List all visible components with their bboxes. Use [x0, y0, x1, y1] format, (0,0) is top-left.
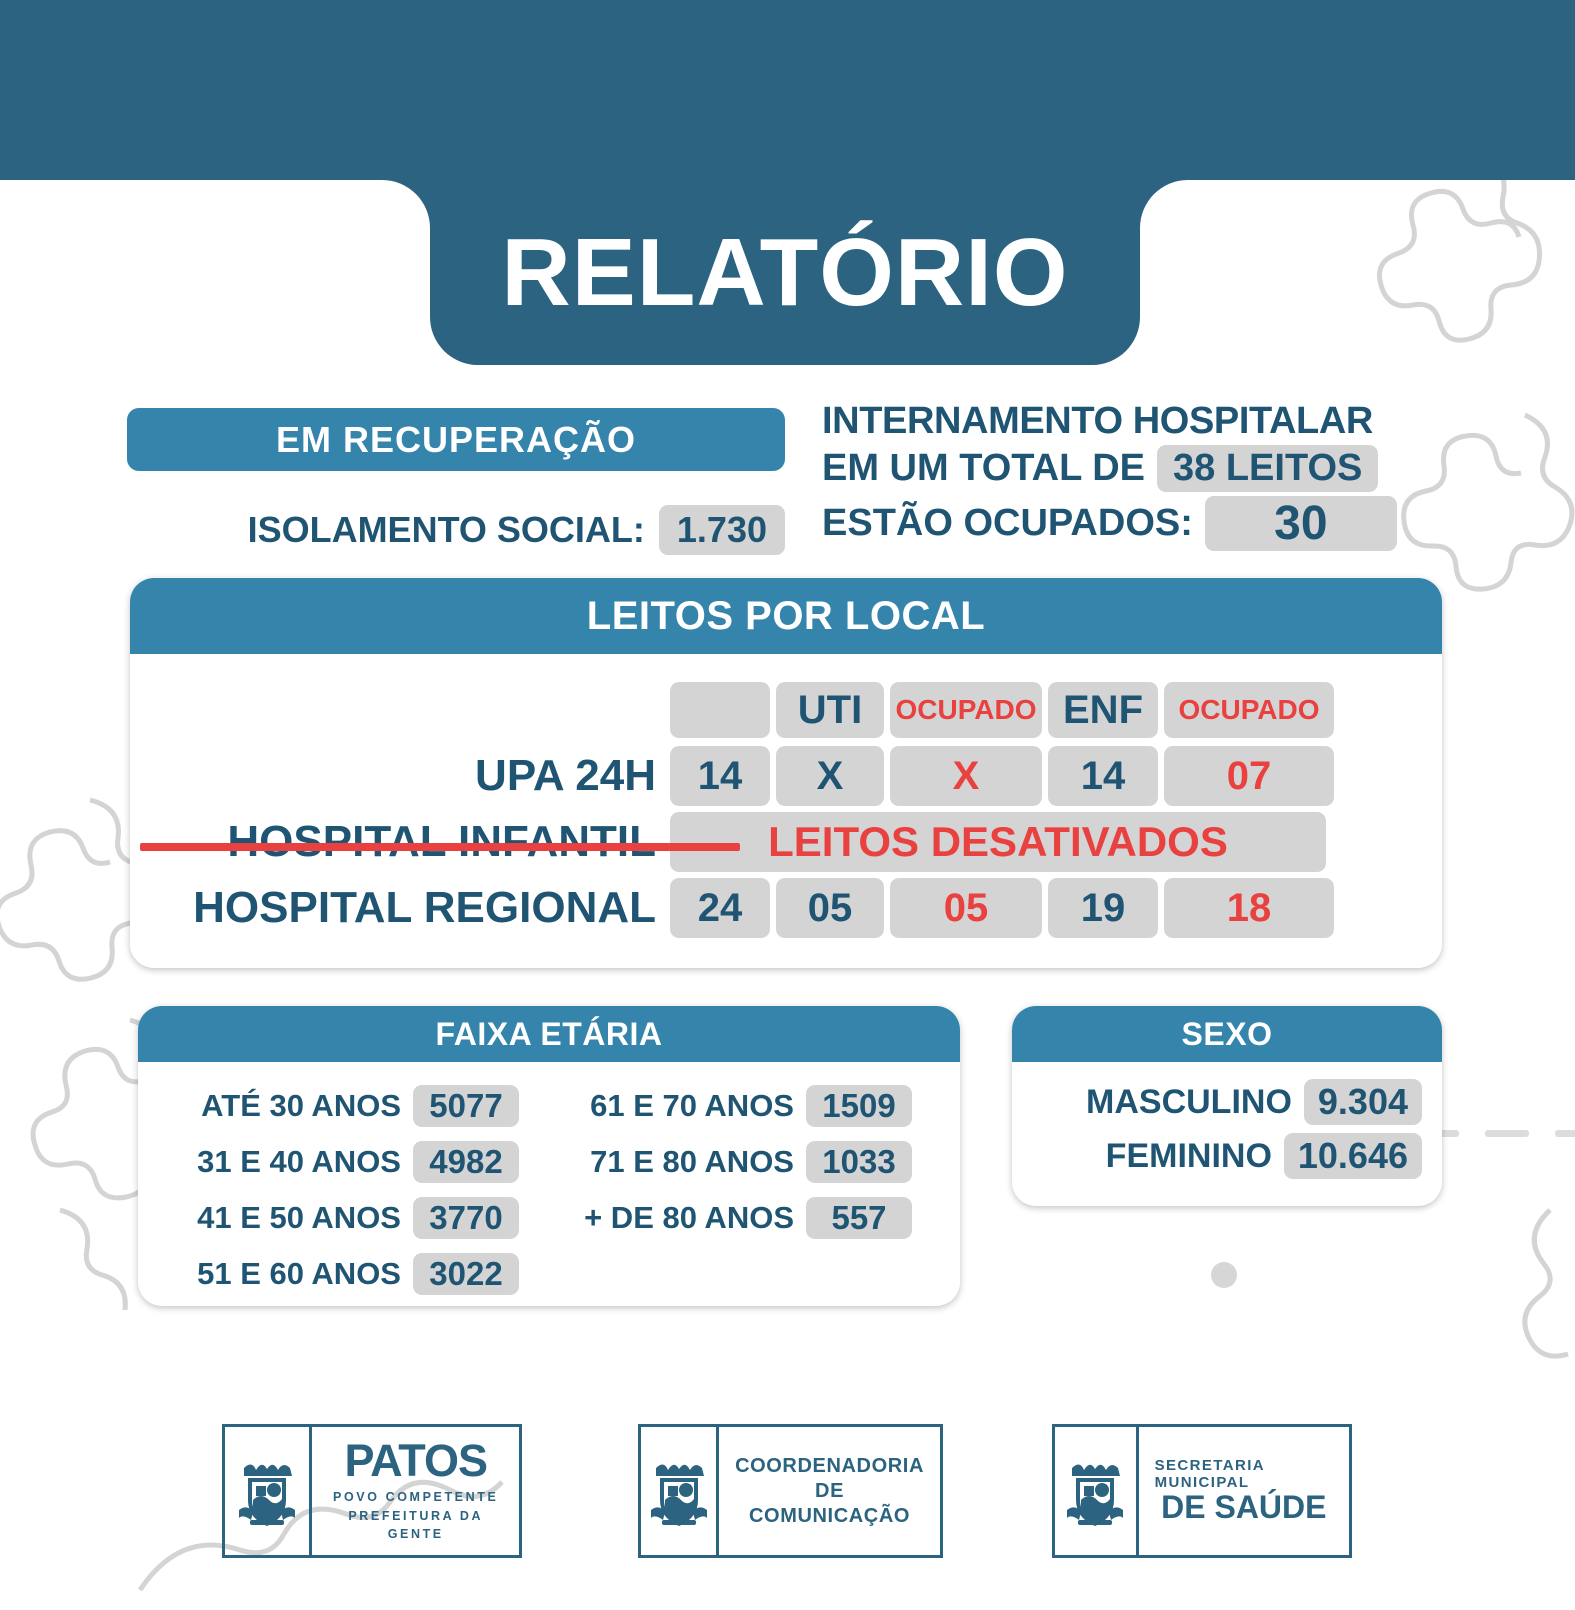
table-row: UPA 24H 14 X X 14 07: [130, 746, 1442, 806]
leitos-card-title: LEITOS POR LOCAL: [587, 594, 985, 639]
leitos-card-header: LEITOS POR LOCAL: [130, 578, 1442, 654]
header-cell-blank: [670, 682, 770, 738]
isolamento-value: 1.730: [659, 505, 785, 555]
faixa-value: 3770: [413, 1197, 519, 1239]
recuperacao-pill: EM RECUPERAÇÃO: [127, 408, 785, 471]
faixa-label: 61 E 70 ANOS: [549, 1088, 794, 1124]
ocupados-value: 30: [1205, 496, 1397, 551]
total-leitos-label: EM UM TOTAL DE: [822, 447, 1145, 490]
decor-dot-3: [1211, 1262, 1237, 1288]
faixa-row: 51 E 60 ANOS 3022: [156, 1252, 549, 1296]
faixa-column-right: 61 E 70 ANOS 1509 71 E 80 ANOS 1033 + DE…: [549, 1084, 942, 1306]
logo-saude-line2: DE SAÚDE: [1161, 1491, 1326, 1525]
row-cells-hospital-regional: 24 05 05 19 18: [670, 878, 1334, 938]
faixa-label: 71 E 80 ANOS: [549, 1144, 794, 1180]
header-cell-uti-ocupado: OCUPADO: [890, 682, 1042, 738]
faixa-row: ATÉ 30 ANOS 5077: [156, 1084, 549, 1128]
logo-patos-text: PATOS POVO COMPETENTE PREFEITURA DA GENT…: [312, 1427, 519, 1555]
table-header-row: UTI OCUPADO ENF OCUPADO: [130, 680, 1442, 740]
header-bar: [0, 0, 1575, 180]
table-row: HOSPITAL REGIONAL 24 05 05 19 18: [130, 878, 1442, 938]
cell-leitos-desativados: LEITOS DESATIVADOS: [670, 812, 1326, 872]
cell-regional-enf: 19: [1048, 878, 1158, 938]
page-title: RELATÓRIO: [501, 218, 1068, 328]
row-label-hospital-regional: HOSPITAL REGIONAL: [130, 883, 670, 933]
ocupados-row: ESTÃO OCUPADOS: 30: [822, 496, 1442, 551]
faixa-row: 31 E 40 ANOS 4982: [156, 1140, 549, 1184]
sexo-row: MASCULINO 9.304: [1022, 1078, 1422, 1126]
header-cell-uti: UTI: [776, 682, 884, 738]
leitos-table: UTI OCUPADO ENF OCUPADO UPA 24H 14 X X 1…: [130, 654, 1442, 938]
cell-upa-uti: X: [776, 746, 884, 806]
sexo-value-masculino: 9.304: [1304, 1079, 1422, 1125]
row-cells-upa: 14 X X 14 07: [670, 746, 1334, 806]
faixa-row: 41 E 50 ANOS 3770: [156, 1196, 549, 1240]
logo-secretaria-saude: SECRETARIA MUNICIPAL DE SAÚDE: [1052, 1424, 1352, 1558]
logo-patos-subtitle: POVO COMPETENTE PREFEITURA DA GENTE: [328, 1488, 503, 1544]
faixa-label: + DE 80 ANOS: [549, 1200, 794, 1236]
sexo-label-masculino: MASCULINO: [1086, 1083, 1292, 1122]
faixa-label: ATÉ 30 ANOS: [156, 1088, 401, 1124]
coat-of-arms-icon: [641, 1427, 719, 1555]
row-cells-hospital-infantil: LEITOS DESATIVADOS: [670, 812, 1326, 872]
recuperacao-label: EM RECUPERAÇÃO: [276, 419, 636, 461]
sexo-card: SEXO MASCULINO 9.304 FEMININO 10.646: [1012, 1006, 1442, 1206]
total-leitos-row: EM UM TOTAL DE 38 LEITOS: [822, 445, 1442, 492]
faixa-card-title: FAIXA ETÁRIA: [435, 1016, 662, 1053]
sexo-card-title: SEXO: [1182, 1016, 1273, 1053]
faixa-value: 3022: [413, 1253, 519, 1295]
cell-upa-total: 14: [670, 746, 770, 806]
tab-fillet-left: [382, 180, 430, 228]
cell-regional-total: 24: [670, 878, 770, 938]
internamento-block: INTERNAMENTO HOSPITALAR EM UM TOTAL DE 3…: [822, 400, 1442, 551]
isolamento-label: ISOLAMENTO SOCIAL:: [248, 509, 645, 551]
table-row: HOSPITAL INFANTIL LEITOS DESATIVADOS: [130, 812, 1442, 872]
report-title-banner: RELATÓRIO: [0, 180, 1575, 370]
faixa-row: 61 E 70 ANOS 1509: [549, 1084, 942, 1128]
cell-regional-uti: 05: [776, 878, 884, 938]
faixa-value: 1509: [806, 1085, 912, 1127]
header-cells: UTI OCUPADO ENF OCUPADO: [670, 682, 1334, 738]
logo-comunicacao-label: COORDENADORIA DE COMUNICAÇÃO: [735, 1454, 924, 1529]
cell-upa-uti-ocupado: X: [890, 746, 1042, 806]
faixa-etaria-card: FAIXA ETÁRIA ATÉ 30 ANOS 5077 31 E 40 AN…: [138, 1006, 960, 1306]
faixa-value: 4982: [413, 1141, 519, 1183]
report-title-tab: RELATÓRIO: [430, 180, 1140, 365]
faixa-label: 31 E 40 ANOS: [156, 1144, 401, 1180]
faixa-row: + DE 80 ANOS 557: [549, 1196, 942, 1240]
cell-regional-uti-ocupado: 05: [890, 878, 1042, 938]
isolamento-row: ISOLAMENTO SOCIAL: 1.730: [127, 504, 785, 556]
sexo-row: FEMININO 10.646: [1022, 1132, 1422, 1180]
sexo-card-header: SEXO: [1012, 1006, 1442, 1062]
logo-coordenadoria-comunicacao: COORDENADORIA DE COMUNICAÇÃO: [638, 1424, 943, 1558]
faixa-column-left: ATÉ 30 ANOS 5077 31 E 40 ANOS 4982 41 E …: [156, 1084, 549, 1306]
logo-comunicacao-text: COORDENADORIA DE COMUNICAÇÃO: [719, 1427, 940, 1555]
cell-regional-enf-ocupado: 18: [1164, 878, 1334, 938]
internamento-title: INTERNAMENTO HOSPITALAR: [822, 400, 1442, 443]
faixa-value: 5077: [413, 1085, 519, 1127]
logo-saude-line1: SECRETARIA MUNICIPAL: [1155, 1457, 1333, 1491]
row-label-upa: UPA 24H: [130, 751, 670, 801]
ocupados-label: ESTÃO OCUPADOS:: [822, 502, 1193, 545]
logo-patos-word: PATOS: [344, 1438, 487, 1483]
sexo-value-feminino: 10.646: [1284, 1133, 1422, 1179]
faixa-row: 71 E 80 ANOS 1033: [549, 1140, 942, 1184]
logo-prefeitura-patos: PATOS POVO COMPETENTE PREFEITURA DA GENT…: [222, 1424, 522, 1558]
cell-upa-enf: 14: [1048, 746, 1158, 806]
faixa-body: ATÉ 30 ANOS 5077 31 E 40 ANOS 4982 41 E …: [138, 1062, 960, 1306]
header-cell-enf-ocupado: OCUPADO: [1164, 682, 1334, 738]
row-label-hospital-infantil: HOSPITAL INFANTIL: [130, 817, 670, 867]
faixa-value: 1033: [806, 1141, 912, 1183]
tab-fillet-right: [1140, 180, 1188, 228]
sexo-label-feminino: FEMININO: [1106, 1137, 1272, 1176]
logo-saude-text: SECRETARIA MUNICIPAL DE SAÚDE: [1139, 1427, 1349, 1555]
coat-of-arms-icon: [225, 1427, 312, 1555]
faixa-label: 41 E 50 ANOS: [156, 1200, 401, 1236]
leitos-por-local-card: LEITOS POR LOCAL UTI OCUPADO ENF OCUPADO…: [130, 578, 1442, 968]
sexo-body: MASCULINO 9.304 FEMININO 10.646: [1012, 1062, 1442, 1196]
faixa-value: 557: [806, 1197, 912, 1239]
faixa-label: 51 E 60 ANOS: [156, 1256, 401, 1292]
coat-of-arms-icon: [1055, 1427, 1139, 1555]
faixa-card-header: FAIXA ETÁRIA: [138, 1006, 960, 1062]
footer-logos: PATOS POVO COMPETENTE PREFEITURA DA GENT…: [0, 1424, 1575, 1576]
cell-upa-enf-ocupado: 07: [1164, 746, 1334, 806]
header-cell-enf: ENF: [1048, 682, 1158, 738]
total-leitos-value: 38 LEITOS: [1157, 445, 1378, 492]
